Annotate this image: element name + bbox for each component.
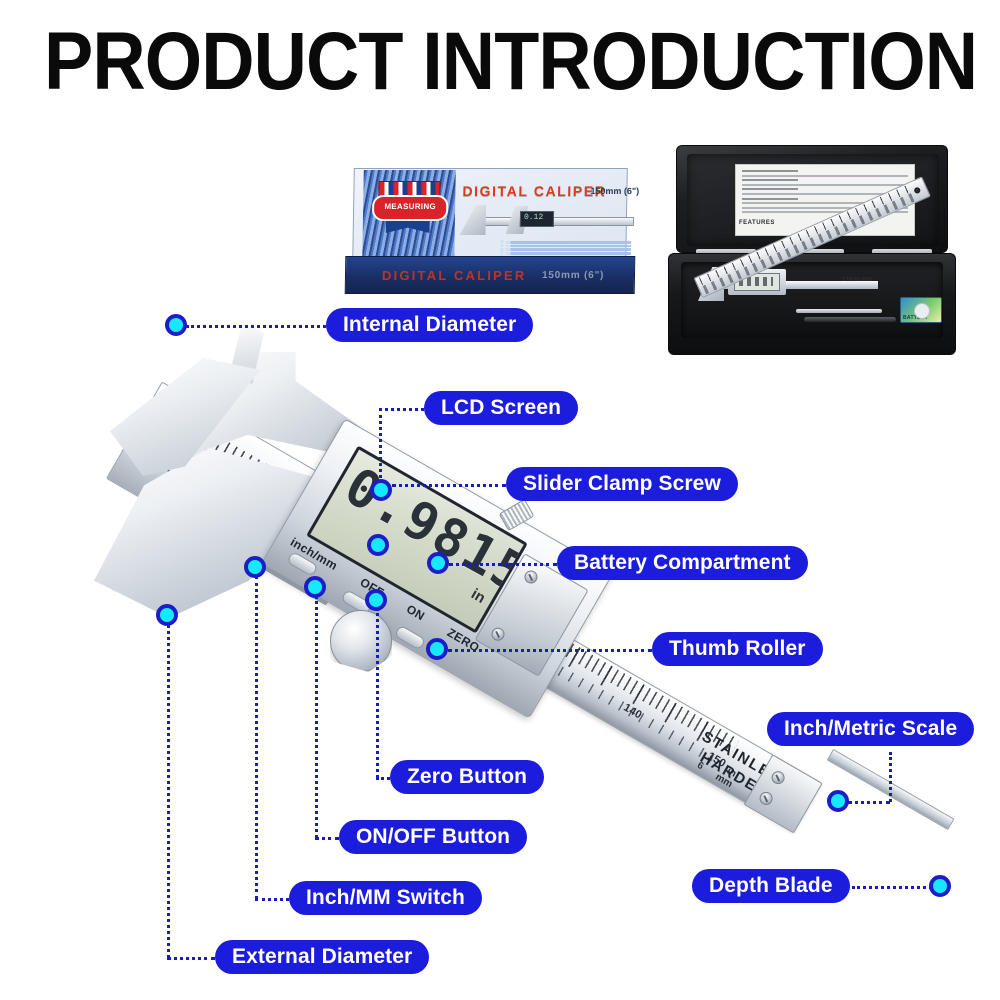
measuring-ribbon-badge: MEASURING <box>372 181 445 233</box>
box-front-face: DIGITAL CALIPER 150mm (6") <box>345 256 636 294</box>
end-screw-bottom <box>757 790 775 808</box>
leader-scale-h <box>848 801 890 804</box>
ribbon-label: MEASURING <box>372 195 448 221</box>
marker-battery-compartment[interactable] <box>427 552 449 574</box>
box-caliper-beam <box>476 217 634 226</box>
slider-clamp-screw[interactable] <box>499 499 535 531</box>
end-screw-top <box>769 769 787 787</box>
page-title: PRODUCT INTRODUCTION <box>44 18 872 106</box>
leader-battery <box>449 563 557 566</box>
leader-scale-v <box>889 752 892 802</box>
marker-slider-clamp-screw[interactable] <box>370 479 392 501</box>
box-caliper-jaw <box>460 205 487 235</box>
callout-zero-button[interactable]: Zero Button <box>390 760 544 794</box>
leader-external-h <box>167 957 215 960</box>
box-front-size-text: 150mm (6") <box>542 270 604 281</box>
box-caliper-illustration <box>458 203 637 237</box>
leader-onoff-h <box>315 837 339 840</box>
battery-screw-bottom <box>489 625 507 643</box>
thumb-roller-wheel[interactable] <box>330 610 392 672</box>
caliper-slider-assembly: 0.9815 in inch/mm OFF ON ZERO <box>300 418 610 614</box>
battery-screw-top <box>522 568 540 586</box>
product-box-photo: MEASURING DIGITAL CALIPER 150mm (6") DIG… <box>345 168 635 300</box>
marker-depth-blade[interactable] <box>929 875 951 897</box>
leader-clamp-screw <box>392 484 506 487</box>
callout-on-off-button[interactable]: ON/OFF Button <box>339 820 527 854</box>
callout-depth-blade[interactable]: Depth Blade <box>692 869 850 903</box>
callout-external-diameter[interactable]: External Diameter <box>215 940 429 974</box>
marker-inch-metric-scale[interactable] <box>827 790 849 812</box>
marker-zero-button[interactable] <box>365 589 387 611</box>
marker-inch-mm-switch[interactable] <box>244 556 266 578</box>
leader-inchmm-h <box>255 898 289 901</box>
callout-inch-metric-scale[interactable]: Inch/Metric Scale <box>767 712 974 746</box>
marker-external-diameter[interactable] <box>156 604 178 626</box>
box-brand-text: DIGITAL CALIPER <box>462 183 606 199</box>
storage-case-photo: FEATURES STAINLESS BATTERY <box>668 145 956 360</box>
marker-thumb-roller[interactable] <box>426 638 448 660</box>
leader-thumb-roller <box>448 649 652 652</box>
leader-depth-blade <box>852 886 932 889</box>
box-size-text: 150mm (6") <box>590 186 639 196</box>
callout-battery-compartment[interactable]: Battery Compartment <box>557 546 808 580</box>
marker-on-off-button[interactable] <box>304 576 326 598</box>
marker-internal-diameter[interactable] <box>165 314 187 336</box>
leader-lcd-h <box>379 408 424 411</box>
on-label: ON <box>404 602 427 624</box>
callout-internal-diameter[interactable]: Internal Diameter <box>326 308 533 342</box>
leader-external-v <box>167 625 170 958</box>
case-extension-rod-light <box>796 309 882 313</box>
box-front-brand-text: DIGITAL CALIPER <box>382 268 527 283</box>
box-top-face: MEASURING DIGITAL CALIPER 150mm (6") <box>352 168 628 264</box>
leader-lcd-v <box>379 408 382 490</box>
marker-lcd-screen[interactable] <box>367 534 389 556</box>
case-battery-pack: BATTERY <box>900 297 942 323</box>
case-features-label: FEATURES <box>739 220 775 226</box>
leader-zero-v <box>376 608 379 778</box>
callout-inch-mm-switch[interactable]: Inch/MM Switch <box>289 881 482 915</box>
leader-internal-diameter <box>186 325 326 328</box>
callout-thumb-roller[interactable]: Thumb Roller <box>652 632 823 666</box>
box-caliper-lcd <box>520 211 554 227</box>
leader-onoff-v <box>315 596 318 838</box>
callout-slider-clamp-screw[interactable]: Slider Clamp Screw <box>506 467 738 501</box>
case-caliper-etch: STAINLESS <box>842 277 873 283</box>
callout-lcd-screen[interactable]: LCD Screen <box>424 391 578 425</box>
infographic-canvas: PRODUCT INTRODUCTION MEASURING DIGITAL C… <box>0 0 1000 1000</box>
leader-inchmm-v <box>255 576 258 899</box>
case-battery-label: BATTERY <box>903 315 928 321</box>
case-extension-rod <box>804 317 896 322</box>
leader-zero-h <box>376 777 390 780</box>
